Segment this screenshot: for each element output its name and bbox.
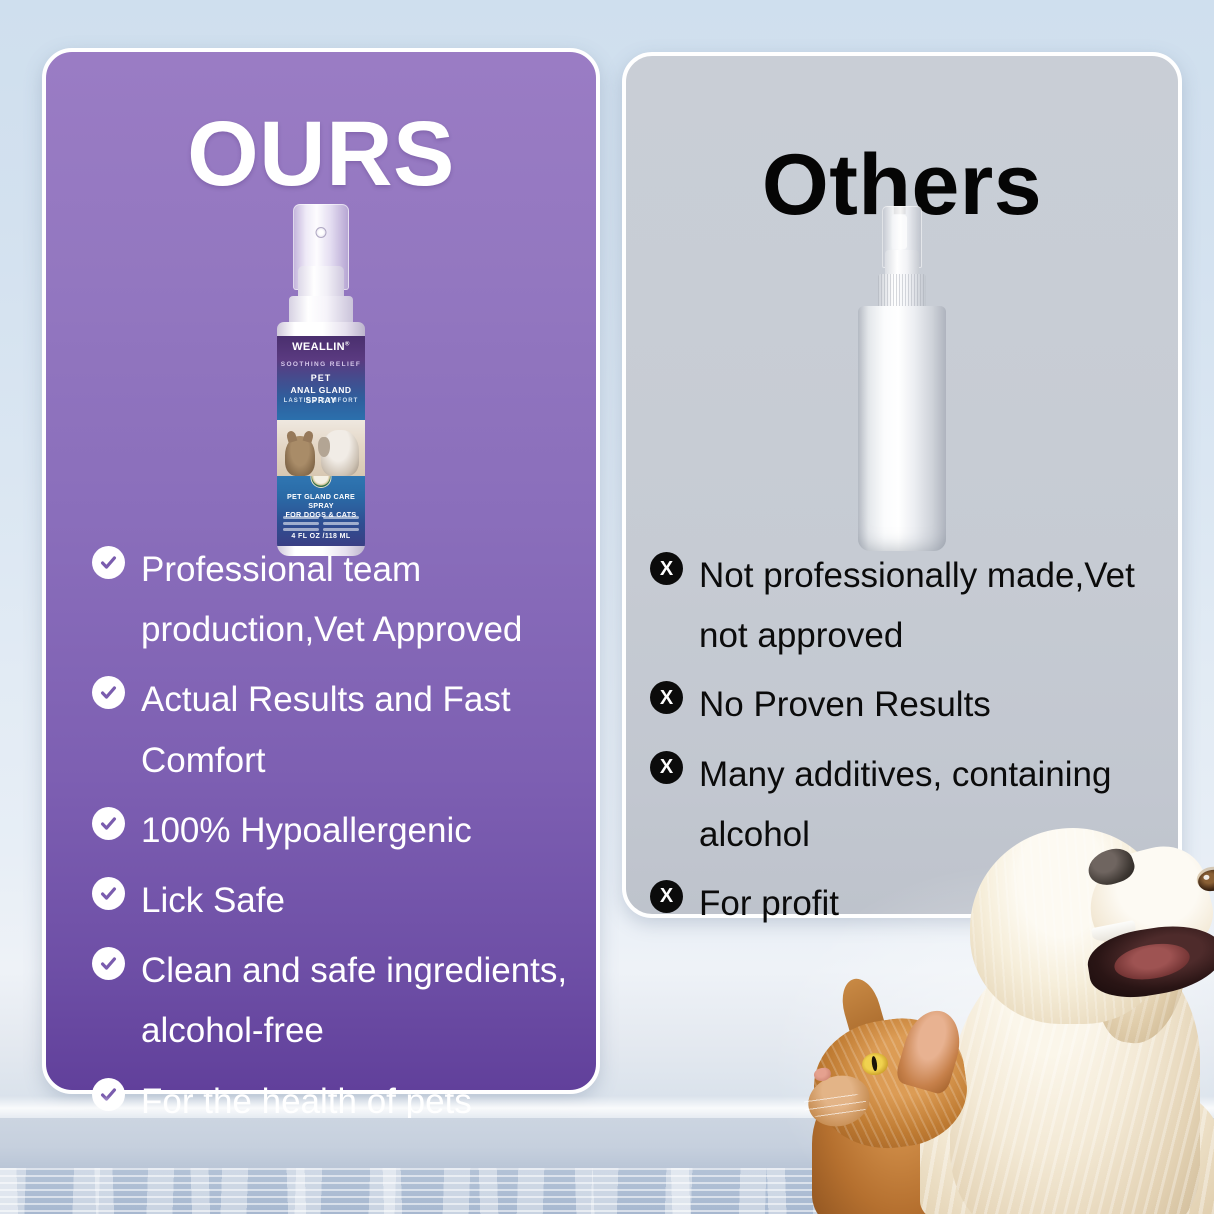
bullet-line	[323, 528, 359, 531]
bullet-line	[283, 528, 319, 531]
bullet-line	[283, 516, 319, 519]
cap-vent-icon	[316, 227, 327, 238]
x-circle-icon: X	[650, 751, 683, 784]
x-glyph: X	[660, 559, 673, 579]
list-item-label: Many additives, containing alcohol	[699, 745, 1162, 865]
dog-tongue	[1112, 939, 1192, 984]
list-item-label: Professional team production,Vet Approve…	[141, 540, 574, 660]
x-circle-icon: X	[650, 880, 683, 913]
product-subtitle-line1: PET GLAND CARE SPRAY	[287, 492, 355, 510]
list-item-label: 100% Hypoallergenic	[141, 801, 472, 861]
bullet-line	[323, 516, 359, 519]
ours-panel: OURS WEALLIN® SOOTHING RELIEF PET ANAL G…	[42, 48, 600, 1094]
bottle-nozzle	[298, 266, 344, 300]
label-cat-image	[285, 436, 315, 476]
generic-bottle-body	[858, 306, 946, 551]
ours-title: OURS	[46, 108, 596, 200]
shelf-water-surface	[0, 1168, 1214, 1214]
bullet-line	[323, 522, 359, 525]
infographic-canvas: OURS WEALLIN® SOOTHING RELIEF PET ANAL G…	[0, 0, 1214, 1214]
cat-whiskers	[804, 1092, 866, 1118]
product-tagline-bottom: LASTING COMFORT	[277, 398, 365, 404]
brand-text: WEALLIN	[292, 341, 345, 353]
list-item-label: Lick Safe	[141, 871, 285, 931]
label-pet-photo	[277, 420, 365, 476]
label-bottom-section: PET GLAND CARE SPRAY FOR DOGS & CATS 4 F…	[277, 476, 365, 546]
list-item: X No Proven Results	[650, 675, 1162, 735]
bullet-line	[283, 522, 319, 525]
check-circle-icon	[92, 807, 125, 840]
cat-nose	[813, 1066, 833, 1083]
x-circle-icon: X	[650, 552, 683, 585]
list-item-label: For profit	[699, 874, 839, 934]
label-top-section: WEALLIN® SOOTHING RELIEF PET ANAL GLAND …	[277, 336, 365, 420]
generic-bottle-collar	[878, 274, 926, 308]
x-circle-icon: X	[650, 681, 683, 714]
list-item: X Many additives, containing alcohol	[650, 745, 1162, 865]
check-circle-icon	[92, 676, 125, 709]
others-generic-bottle	[852, 206, 952, 551]
ours-feature-list: Professional team production,Vet Approve…	[92, 540, 574, 1142]
check-circle-icon	[92, 546, 125, 579]
brand-registered-mark: ®	[345, 341, 350, 347]
label-feature-bullets	[283, 516, 359, 531]
product-category: PET	[277, 373, 365, 383]
list-item: Actual Results and Fast Comfort	[92, 670, 574, 790]
shelf-band	[0, 1118, 1214, 1170]
check-circle-icon	[92, 947, 125, 980]
dog-eye	[1197, 868, 1214, 893]
product-tagline-top: SOOTHING RELIEF	[277, 361, 365, 368]
others-panel: Others X Not professionally made,Vet not…	[622, 52, 1182, 918]
product-volume: 4 FL OZ /118 ML	[277, 533, 365, 540]
x-glyph: X	[660, 757, 673, 777]
bottle-body: WEALLIN® SOOTHING RELIEF PET ANAL GLAND …	[277, 322, 365, 556]
list-item-label: No Proven Results	[699, 675, 991, 735]
list-item: Professional team production,Vet Approve…	[92, 540, 574, 660]
cat-eye	[861, 1051, 890, 1076]
cat-ear-right	[894, 1004, 968, 1096]
x-glyph: X	[660, 886, 673, 906]
list-item: X For profit	[650, 874, 1162, 934]
list-item-label: Actual Results and Fast Comfort	[141, 670, 574, 790]
list-item-label: Not professionally made,Vet not approved	[699, 546, 1162, 666]
list-item: Clean and safe ingredients, alcohol-free	[92, 941, 574, 1061]
check-circle-icon	[92, 1078, 125, 1111]
list-item: X Not professionally made,Vet not approv…	[650, 546, 1162, 666]
cat-ear-left	[836, 974, 888, 1044]
list-item-label: Clean and safe ingredients, alcohol-free	[141, 941, 574, 1061]
product-subtitle: PET GLAND CARE SPRAY FOR DOGS & CATS	[277, 492, 365, 519]
list-item: Lick Safe	[92, 871, 574, 931]
list-item: 100% Hypoallergenic	[92, 801, 574, 861]
x-glyph: X	[660, 688, 673, 708]
check-circle-icon	[92, 877, 125, 910]
ours-product-bottle: WEALLIN® SOOTHING RELIEF PET ANAL GLAND …	[269, 204, 373, 556]
others-feature-list: X Not professionally made,Vet not approv…	[650, 546, 1162, 943]
label-dog-image	[321, 430, 359, 476]
certified-seal-icon	[311, 476, 332, 488]
product-brand: WEALLIN®	[277, 341, 365, 353]
